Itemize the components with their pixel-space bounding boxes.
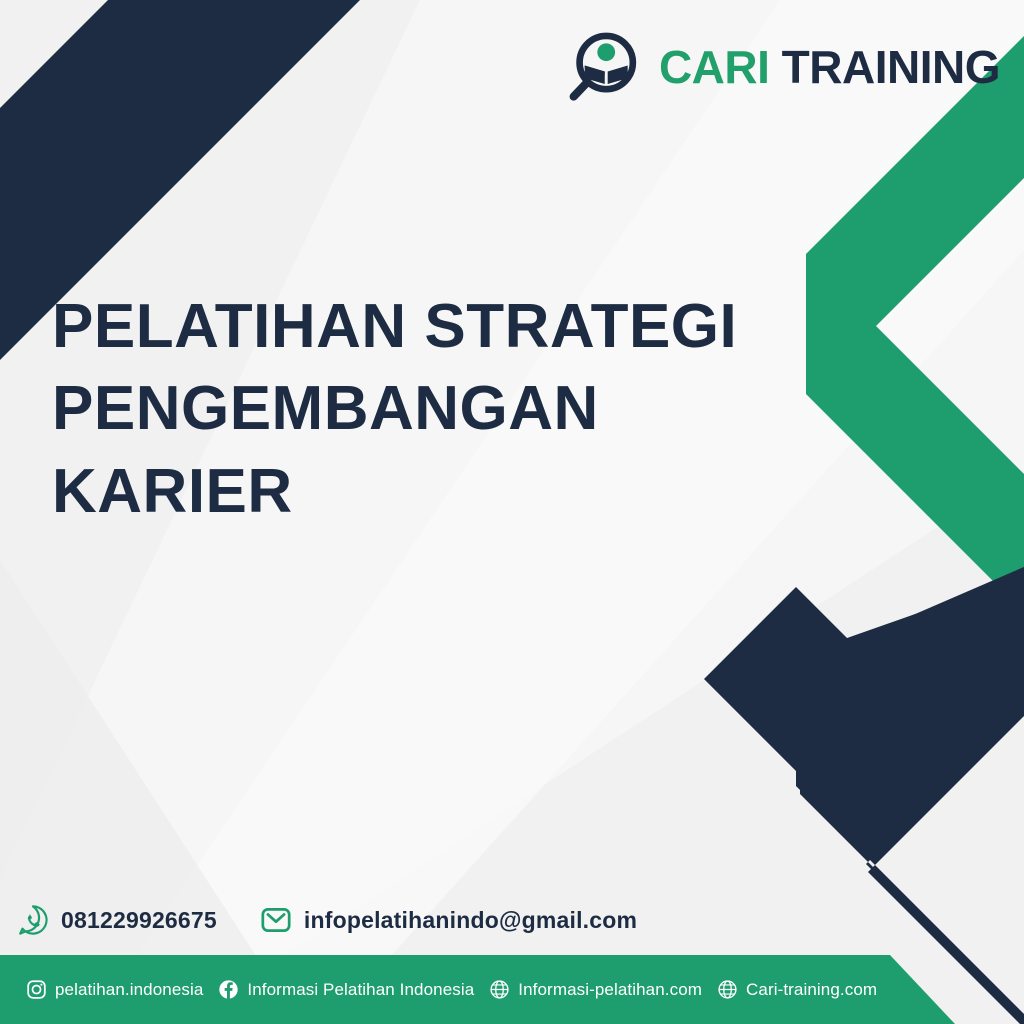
footer-item-website-2[interactable]: Cari-training.com: [717, 979, 877, 1000]
brand-logo[interactable]: CARI TRAINING: [567, 30, 1000, 104]
footer-item-label: Cari-training.com: [746, 980, 877, 1000]
contact-email[interactable]: infopelatihanindo@gmail.com: [259, 903, 637, 937]
contact-email-value: infopelatihanindo@gmail.com: [304, 907, 637, 934]
contact-phone-value: 081229926675: [61, 907, 217, 934]
page-title: PELATIHAN STRATEGI PENGEMBANGAN KARIER: [52, 286, 812, 533]
brand-word-cari: CARI: [659, 41, 769, 93]
magnifier-book-logo-icon: [567, 30, 641, 104]
title-line-1: PELATIHAN STRATEGI: [52, 286, 812, 368]
footer-item-instagram[interactable]: pelatihan.indonesia: [26, 979, 203, 1000]
whatsapp-icon: [16, 903, 50, 937]
footer-bar: pelatihan.indonesia Informasi Pelatihan …: [0, 955, 1024, 1024]
title-line-2: PENGEMBANGAN: [52, 368, 812, 450]
footer-item-facebook[interactable]: Informasi Pelatihan Indonesia: [218, 979, 474, 1000]
globe-icon: [489, 979, 510, 1000]
footer-item-label: Informasi-pelatihan.com: [518, 980, 702, 1000]
footer-item-website-1[interactable]: Informasi-pelatihan.com: [489, 979, 702, 1000]
facebook-icon: [218, 979, 239, 1000]
brand-wordmark: CARI TRAINING: [659, 44, 1000, 90]
poster-canvas: CARI TRAINING PELATIHAN STRATEGI PENGEMB…: [0, 0, 1024, 1024]
footer-links: pelatihan.indonesia Informasi Pelatihan …: [26, 955, 877, 1024]
instagram-icon: [26, 979, 47, 1000]
globe-icon: [717, 979, 738, 1000]
contact-row: 081229926675 infopelatihanindo@gmail.com: [16, 903, 637, 937]
contact-phone[interactable]: 081229926675: [16, 903, 217, 937]
footer-item-label: pelatihan.indonesia: [55, 980, 203, 1000]
title-line-3: KARIER: [52, 451, 812, 533]
footer-item-label: Informasi Pelatihan Indonesia: [247, 980, 474, 1000]
brand-word-training: TRAINING: [782, 41, 1000, 93]
email-icon: [259, 903, 293, 937]
